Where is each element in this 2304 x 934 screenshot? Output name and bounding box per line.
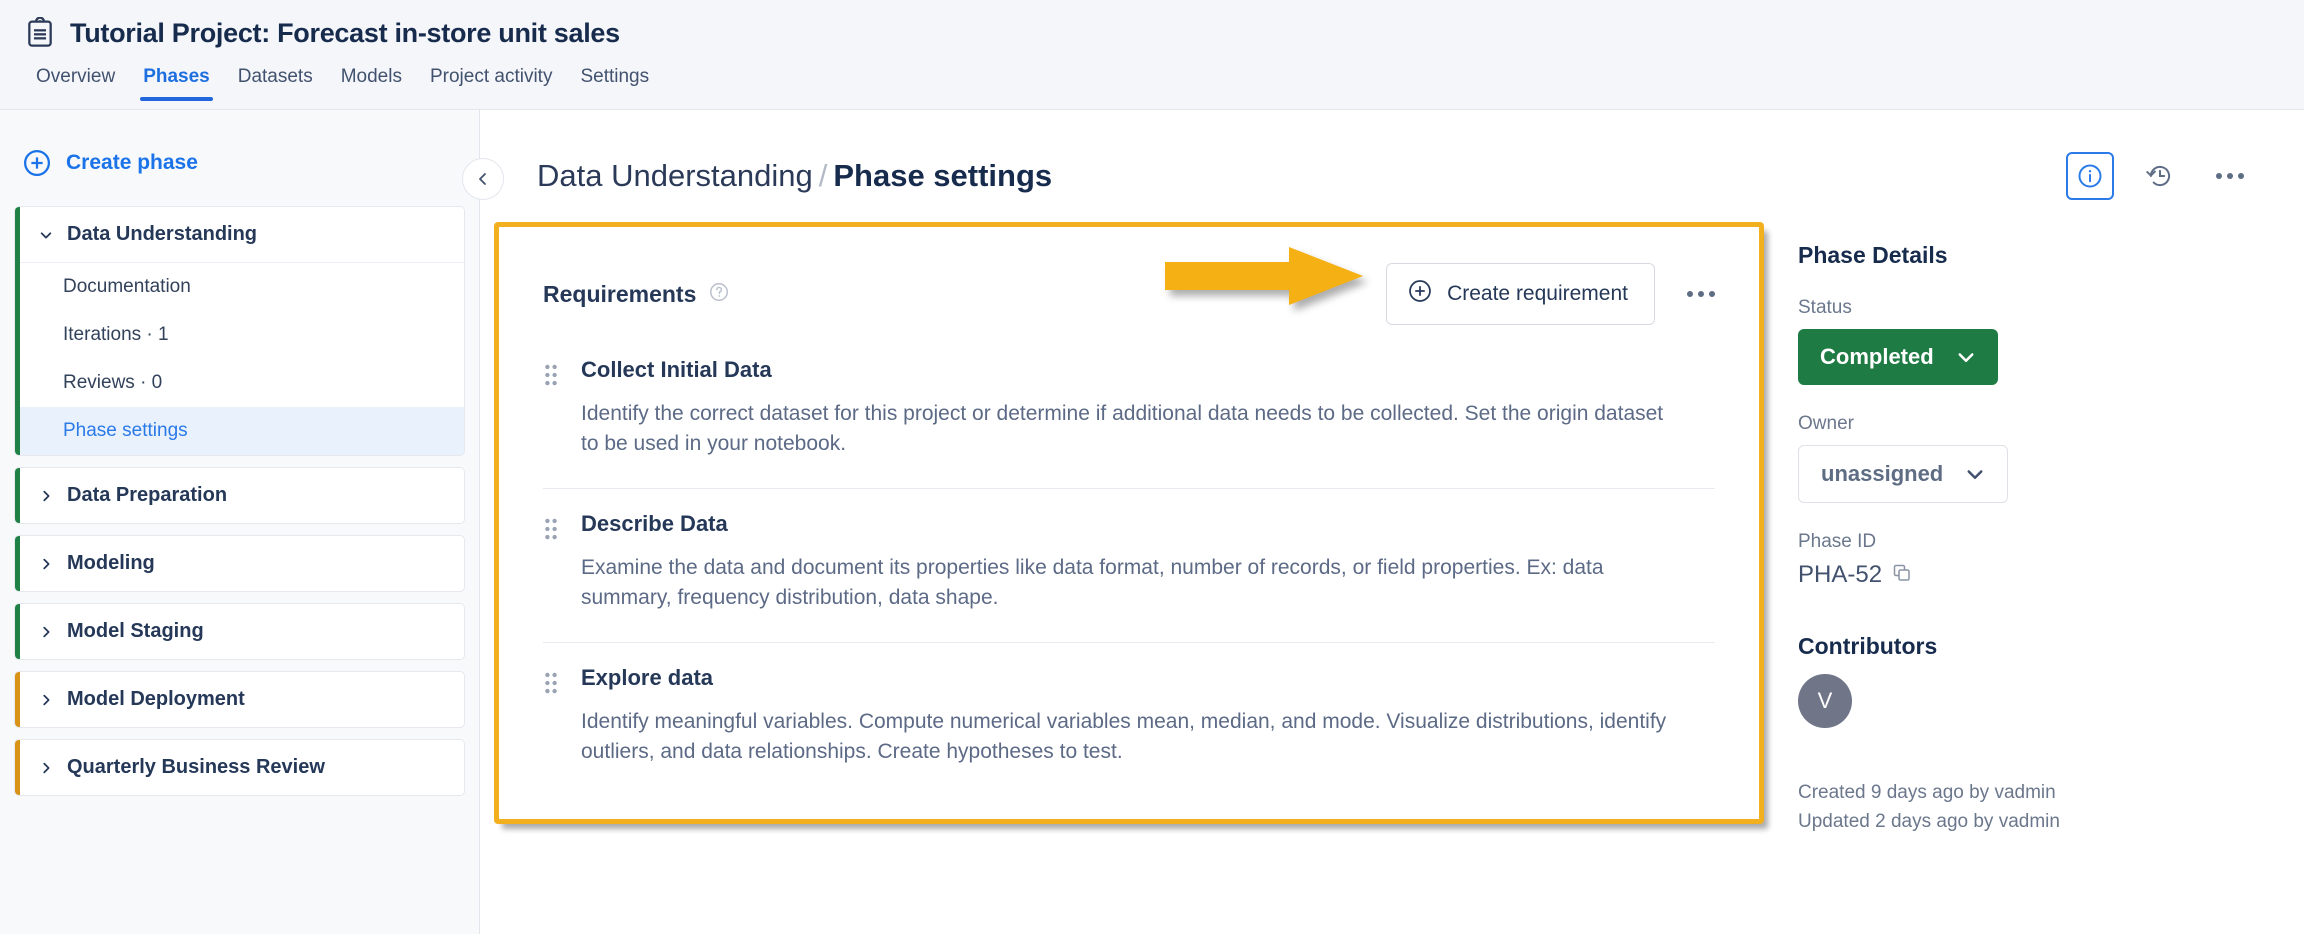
status-badge[interactable]: Completed [1798,329,1998,385]
tab-phases[interactable]: Phases [129,62,224,101]
requirements-header-actions: Create requirement [1386,263,1725,325]
help-circle-icon[interactable] [708,281,730,308]
sidebar-item-phase-settings[interactable]: Phase settings [15,407,464,455]
requirement-row[interactable]: Explore data Identify meaningful variabl… [543,642,1715,796]
header-actions [2066,152,2254,200]
owner-value: unassigned [1821,461,1943,487]
updated-text: Updated 2 days ago by vadmin [1798,807,2218,836]
phase-id-row: PHA-52 [1798,561,2218,589]
phase-header-quarterly-business-review[interactable]: Quarterly Business Review [15,740,464,795]
page-title: Tutorial Project: Forecast in-store unit… [70,18,620,49]
info-circle-icon [2076,162,2104,190]
phase-header-model-staging[interactable]: Model Staging [15,604,464,659]
requirement-row[interactable]: Describe Data Examine the data and docum… [543,488,1715,642]
phase-header-model-deployment[interactable]: Model Deployment [15,672,464,727]
info-button[interactable] [2066,152,2114,200]
tab-datasets[interactable]: Datasets [224,62,327,101]
copy-icon[interactable] [1892,563,1912,588]
phase-id-label: Phase ID [1798,531,2218,553]
avatar[interactable]: V [1798,674,1852,728]
collapse-sidebar-button[interactable] [462,158,504,200]
status-label: Status [1798,297,2218,319]
breadcrumb-parent[interactable]: Data Understanding [537,158,813,193]
history-button[interactable] [2136,152,2184,200]
phase-card-quarterly-business-review: Quarterly Business Review [14,739,465,796]
phase-name: Model Staging [67,620,204,643]
breadcrumb-row: Data Understanding/Phase settings [481,110,2304,200]
tab-overview[interactable]: Overview [22,62,129,101]
phase-sub-list: Documentation Iterations · 1 Reviews · 0… [15,262,464,455]
requirements-card: Requirements [494,222,1764,824]
requirement-name: Describe Data [581,511,728,537]
breadcrumb: Data Understanding/Phase settings [537,158,1052,194]
app-root: Tutorial Project: Forecast in-store unit… [0,0,2304,934]
phase-card-model-deployment: Model Deployment [14,671,465,728]
phase-name: Quarterly Business Review [67,756,325,779]
drag-handle-icon[interactable] [543,671,559,695]
requirement-name: Collect Initial Data [581,357,772,383]
annotation-arrow-icon [1165,245,1365,307]
phase-card-data-understanding: Data Understanding Documentation Iterati… [14,206,465,456]
status-value: Completed [1820,344,1934,370]
owner-dropdown[interactable]: unassigned [1798,445,2008,503]
tab-models[interactable]: Models [327,62,416,101]
requirements-more-options-button[interactable] [1677,270,1725,318]
phase-header-modeling[interactable]: Modeling [15,536,464,591]
plus-circle-icon [22,148,52,178]
requirement-row-head: Collect Initial Data [543,357,1715,387]
more-options-icon [1687,291,1715,297]
requirements-header: Requirements [499,227,1759,325]
chevron-right-icon [39,557,53,571]
phase-details-title: Phase Details [1798,242,2218,269]
contributors-title: Contributors [1798,633,2218,660]
phase-name: Data Understanding [67,223,257,246]
chevron-right-icon [39,761,53,775]
phase-id-value: PHA-52 [1798,561,1882,589]
requirement-description: Examine the data and document its proper… [543,553,1683,614]
plus-circle-icon [1407,278,1433,310]
drag-handle-icon[interactable] [543,517,559,541]
tab-project-activity[interactable]: Project activity [416,62,566,101]
drag-handle-icon[interactable] [543,363,559,387]
chevron-left-icon [475,171,491,187]
sidebar-item-documentation[interactable]: Documentation [15,263,464,311]
breadcrumb-separator: / [819,158,828,193]
phase-card-model-staging: Model Staging [14,603,465,660]
requirement-row-head: Describe Data [543,511,1715,541]
tab-settings[interactable]: Settings [566,62,663,101]
chevron-down-icon [1965,464,1985,484]
sidebar-item-iterations[interactable]: Iterations · 1 [15,311,464,359]
phase-meta: Created 9 days ago by vadmin Updated 2 d… [1798,778,2218,837]
created-text: Created 9 days ago by vadmin [1798,778,2218,807]
requirement-row-head: Explore data [543,665,1715,695]
main-nav-tabs: Overview Phases Datasets Models Project … [0,62,2304,101]
phase-name: Model Deployment [67,688,245,711]
phase-details-panel: Phase Details Status Completed Owner una… [1798,242,2218,837]
history-clock-icon [2146,162,2174,190]
breadcrumb-current: Phase settings [833,158,1052,193]
requirement-description: Identify meaningful variables. Compute n… [543,707,1683,768]
project-title-row: Tutorial Project: Forecast in-store unit… [0,0,2304,54]
chevron-down-icon [1956,347,1976,367]
requirements-title-group: Requirements [543,281,730,308]
owner-label: Owner [1798,413,2218,435]
phase-card-modeling: Modeling [14,535,465,592]
more-options-icon [2216,173,2244,179]
phase-header-data-preparation[interactable]: Data Preparation [15,468,464,523]
top-header: Tutorial Project: Forecast in-store unit… [0,0,2304,110]
create-requirement-label: Create requirement [1447,282,1628,306]
create-phase-label: Create phase [66,151,198,175]
phase-header-data-understanding[interactable]: Data Understanding [15,207,464,262]
clipboard-icon [24,17,56,49]
chevron-down-icon [39,228,53,242]
phase-card-data-preparation: Data Preparation [14,467,465,524]
phases-sidebar: Create phase Data Understanding Document… [0,110,480,934]
phase-name: Modeling [67,552,155,575]
chevron-right-icon [39,625,53,639]
requirement-description: Identify the correct dataset for this pr… [543,399,1683,460]
requirement-name: Explore data [581,665,713,691]
sidebar-item-reviews[interactable]: Reviews · 0 [15,359,464,407]
requirements-list: Collect Initial Data Identify the correc… [499,325,1759,796]
requirement-row[interactable]: Collect Initial Data Identify the correc… [543,335,1715,488]
more-options-button[interactable] [2206,152,2254,200]
create-requirement-button[interactable]: Create requirement [1386,263,1655,325]
chevron-right-icon [39,693,53,707]
chevron-right-icon [39,489,53,503]
create-phase-button[interactable]: Create phase [0,110,479,178]
phase-list: Data Understanding Documentation Iterati… [0,206,479,796]
phase-name: Data Preparation [67,484,227,507]
requirements-title: Requirements [543,281,696,308]
